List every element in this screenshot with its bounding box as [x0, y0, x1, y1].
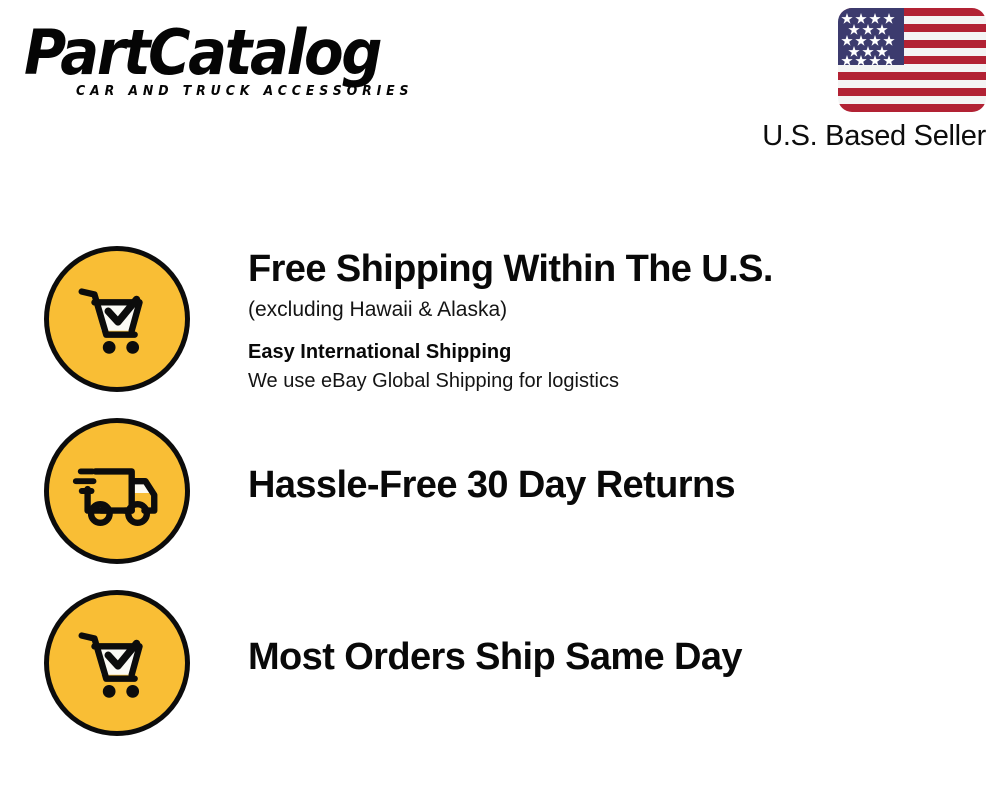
feature-sub-detail: We use eBay Global Shipping for logistic…	[248, 367, 1000, 395]
feature-text-block: Most Orders Ship Same Day	[248, 590, 1000, 680]
feature-subtitle: (excluding Hawaii & Alaska)	[248, 295, 1000, 325]
shopping-cart-check-icon	[44, 590, 190, 736]
us-based-seller-label: U.S. Based Seller	[762, 119, 986, 153]
feature-row: Free Shipping Within The U.S. (excluding…	[0, 246, 1000, 395]
feature-sub-heading: Easy International Shipping	[248, 338, 1000, 366]
brand-wordmark: PartCatalog	[24, 18, 461, 88]
brand-tagline: CAR AND TRUCK ACCESSORIES	[76, 84, 477, 99]
feature-row: Hassle-Free 30 Day Returns	[0, 418, 1000, 564]
feature-title: Free Shipping Within The U.S.	[248, 246, 1000, 292]
feature-title: Hassle-Free 30 Day Returns	[248, 462, 1000, 508]
shopping-cart-check-icon	[44, 246, 190, 392]
feature-text-block: Free Shipping Within The U.S. (excluding…	[248, 246, 1000, 395]
delivery-truck-icon	[44, 418, 190, 564]
brand-logo: PartCatalog CAR AND TRUCK ACCESSORIES	[24, 18, 494, 118]
feature-text-block: Hassle-Free 30 Day Returns	[248, 418, 1000, 508]
feature-row: Most Orders Ship Same Day	[0, 590, 1000, 736]
feature-title: Most Orders Ship Same Day	[248, 634, 1000, 680]
us-flag-icon	[838, 8, 986, 112]
